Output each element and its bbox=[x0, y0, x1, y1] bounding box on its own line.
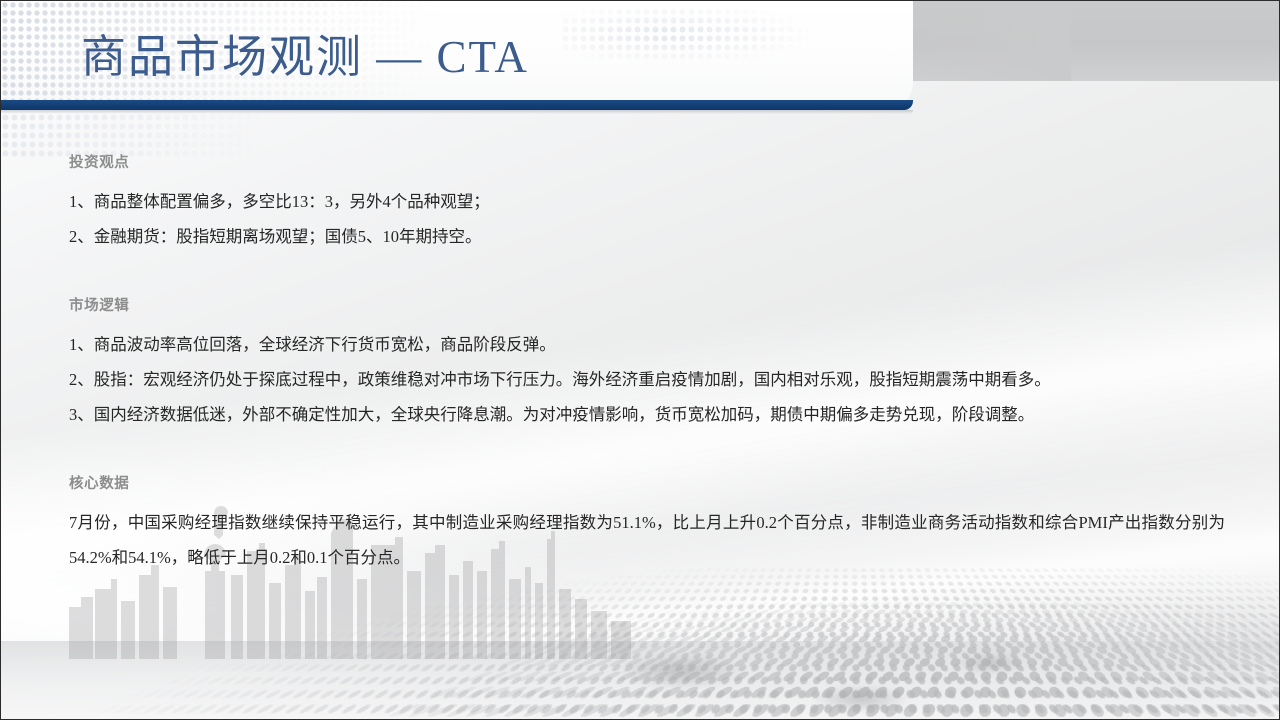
slide-canvas: 商品市场观测 — CTA 投资观点 1、商品整体配置偏多，多空比13：3，另外4… bbox=[0, 0, 1280, 720]
market-logic-line-2: 2、股指：宏观经济仍处于探底过程中，政策维稳对冲市场下行压力。海外经济重启疫情加… bbox=[1, 362, 1280, 397]
section-core-data: 核心数据 7月份，中国采购经理指数继续保持平稳运行，其中制造业采购经理指数为51… bbox=[1, 472, 1280, 575]
market-logic-line-3: 3、国内经济数据低迷，外部不确定性加大，全球央行降息潮。为对冲疫情影响，货币宽松… bbox=[1, 397, 1280, 432]
section-heading-core-data: 核心数据 bbox=[1, 472, 1280, 493]
section-heading-investment-view: 投资观点 bbox=[1, 151, 1280, 172]
slide-header: 商品市场观测 — CTA bbox=[1, 1, 913, 109]
section-heading-market-logic: 市场逻辑 bbox=[1, 294, 1280, 315]
section-investment-view: 投资观点 1、商品整体配置偏多，多空比13：3，另外4个品种观望； 2、金融期货… bbox=[1, 151, 1280, 254]
page-title: 商品市场观测 — CTA bbox=[81, 35, 529, 80]
slide-body: 投资观点 1、商品整体配置偏多，多空比13：3，另外4个品种观望； 2、金融期货… bbox=[1, 109, 1280, 575]
core-data-paragraph: 7月份，中国采购经理指数继续保持平稳运行，其中制造业采购经理指数为51.1%，比… bbox=[1, 505, 1280, 575]
investment-view-line-1: 1、商品整体配置偏多，多空比13：3，另外4个品种观望； bbox=[1, 184, 1280, 219]
section-market-logic: 市场逻辑 1、商品波动率高位回落，全球经济下行货币宽松，商品阶段反弹。 2、股指… bbox=[1, 294, 1280, 432]
market-logic-line-1: 1、商品波动率高位回落，全球经济下行货币宽松，商品阶段反弹。 bbox=[1, 327, 1280, 362]
investment-view-line-2: 2、金融期货：股指短期离场观望；国债5、10年期持空。 bbox=[1, 219, 1280, 254]
header-dot-grid-secondary bbox=[561, 7, 913, 67]
